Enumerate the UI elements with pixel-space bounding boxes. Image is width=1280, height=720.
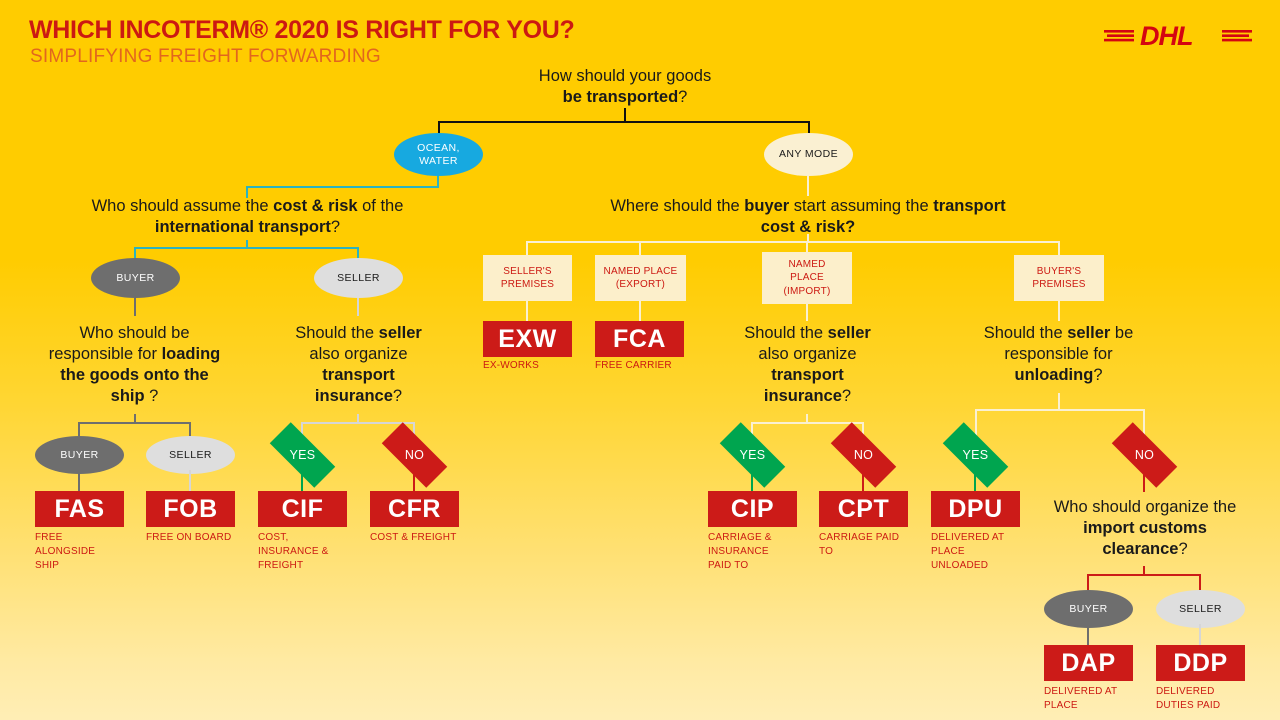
root-question: How should your goods be transported?	[505, 66, 745, 108]
aiq-l4b: insurance	[764, 387, 842, 405]
amq-l1d: transport	[933, 197, 1005, 215]
place1-l2: (EXPORT)	[616, 279, 665, 290]
connector-unloading-no-stem	[1143, 470, 1145, 492]
node-ocean-buyer[interactable]: BUYER	[91, 258, 180, 298]
connector-place0-stem	[526, 301, 528, 321]
term-cfr-caption: COST & FREIGHT	[370, 531, 474, 545]
term-cfr-code: CFR	[388, 495, 441, 524]
place2-l2: PLACE	[790, 272, 824, 283]
ocean-seller-question: Should the seller also organize transpor…	[262, 323, 455, 407]
connector-anymode-drop	[807, 176, 809, 196]
amq-l1c: start assuming the	[789, 197, 933, 215]
place-buyers-premises[interactable]: BUYER'S PREMISES	[1014, 255, 1104, 301]
term-fob-caption: FREE ON BOARD	[146, 531, 250, 545]
cfr-no-label: NO	[405, 448, 424, 462]
obq-l4c: ?	[145, 387, 159, 405]
term-cif[interactable]: CIF	[258, 491, 347, 527]
place0-l1: SELLER'S	[503, 266, 552, 277]
dhl-logo: DHL	[1104, 18, 1252, 52]
ocean-question-l1b: cost & risk	[273, 197, 357, 215]
term-fca-code: FCA	[613, 325, 666, 354]
obq-l2a: responsible for	[49, 345, 162, 363]
aiq-l4c: ?	[842, 387, 851, 405]
term-fca[interactable]: FCA	[595, 321, 684, 357]
term-cfr[interactable]: CFR	[370, 491, 459, 527]
anymode-unloading-question: Should the seller be responsible for unl…	[962, 323, 1155, 386]
term-cpt-caption: CARRIAGE PAID TO	[819, 531, 904, 559]
node-fob-seller[interactable]: SELLER	[146, 436, 235, 474]
cpt-no-label: NO	[854, 448, 873, 462]
term-dap[interactable]: DAP	[1044, 645, 1133, 681]
page-subtitle: SIMPLIFYING FREIGHT FORWARDING	[30, 46, 381, 68]
aiq-l3b: transport	[771, 366, 843, 384]
place2-l1: NAMED	[788, 259, 825, 270]
node-fas-buyer[interactable]: BUYER	[35, 436, 124, 474]
term-dpu-code: DPU	[948, 495, 1002, 524]
place-named-place-import[interactable]: NAMED PLACE (IMPORT)	[762, 252, 852, 304]
term-cif-caption: COST, INSURANCE & FREIGHT	[258, 531, 340, 573]
root-question-line1: How should your goods	[539, 67, 711, 85]
cif-yes-label: YES	[290, 448, 316, 462]
dap-buyer-label: BUYER	[1069, 603, 1107, 616]
any-mode-label: ANY MODE	[779, 148, 838, 161]
connector-obq-left-drop	[78, 422, 80, 436]
fas-buyer-label: BUYER	[60, 449, 98, 462]
ocean-buyer-label: BUYER	[116, 272, 154, 285]
cq-l2b: import customs	[1083, 519, 1207, 537]
term-cip-caption: CARRIAGE & INSURANCE PAID TO	[708, 531, 793, 573]
cip-yes-label: YES	[740, 448, 766, 462]
auq-l3b: unloading	[1014, 366, 1093, 384]
term-fob-code: FOB	[163, 495, 217, 524]
term-dap-caption: DELIVERED AT PLACE	[1044, 685, 1144, 713]
node-ddp-seller[interactable]: SELLER	[1156, 590, 1245, 628]
obq-l4b: ship	[111, 387, 145, 405]
svg-text:DHL: DHL	[1140, 21, 1193, 51]
connector-cif-stem	[301, 470, 303, 492]
root-question-line2-tail: ?	[678, 88, 687, 106]
ocean-question: Who should assume the cost & risk of the…	[55, 196, 440, 238]
connector-cq-bar	[1087, 574, 1200, 576]
connector-ddp-stem	[1199, 624, 1201, 646]
infographic-canvas: WHICH INCOTERM® 2020 IS RIGHT FOR YOU? S…	[0, 0, 1280, 720]
connector-obq-right-drop	[189, 422, 191, 436]
ocean-seller-label: SELLER	[337, 272, 380, 285]
place-sellers-premises[interactable]: SELLER'S PREMISES	[483, 255, 572, 301]
connector-aiq-bar	[751, 422, 863, 424]
connector-amq-d4	[1058, 241, 1060, 255]
connector-auq-stem	[1058, 393, 1060, 410]
term-ddp-code: DDP	[1173, 649, 1227, 678]
ocean-question-l1a: Who should assume the	[92, 197, 274, 215]
connector-osq-bar	[301, 422, 414, 424]
place3-l2: PREMISES	[1032, 279, 1085, 290]
connector-place3-stem	[1058, 301, 1060, 321]
cq-l1: Who should organize the	[1054, 498, 1237, 516]
term-exw-caption: EX-WORKS	[483, 359, 583, 373]
term-cip-code: CIP	[731, 495, 774, 524]
amq-l1a: Where should the	[610, 197, 744, 215]
term-fas[interactable]: FAS	[35, 491, 124, 527]
connector-cpt-stem	[862, 470, 864, 492]
term-exw[interactable]: EXW	[483, 321, 572, 357]
connector-cq-right-drop	[1199, 574, 1201, 590]
place-named-place-export[interactable]: NAMED PLACE (EXPORT)	[595, 255, 686, 301]
connector-fob-stem	[189, 470, 191, 492]
osq-l3b: transport	[322, 366, 394, 384]
connector-cfr-stem	[413, 470, 415, 492]
connector-ocean-seller-drop	[357, 298, 359, 316]
obq-l2b: loading	[162, 345, 221, 363]
connector-amq-bar	[526, 241, 1060, 243]
aiq-l1a: Should the	[744, 324, 827, 342]
auq-l2: responsible for	[1004, 345, 1112, 363]
ocean-question-l2c: ?	[331, 218, 340, 236]
place1-l1: NAMED PLACE	[604, 266, 678, 277]
node-ocean-seller[interactable]: SELLER	[314, 258, 403, 298]
connector-cq-left-drop	[1087, 574, 1089, 590]
auq-l1c: be	[1110, 324, 1133, 342]
node-ocean-water[interactable]: OCEAN, WATER	[394, 133, 483, 176]
aiq-l2: also organize	[758, 345, 856, 363]
connector-root-stem	[624, 108, 626, 122]
obq-l3b: the goods onto the	[60, 366, 208, 384]
ocean-label-line2: WATER	[419, 155, 458, 167]
connector-ocean-q-bar	[134, 247, 359, 249]
term-cpt[interactable]: CPT	[819, 491, 908, 527]
unloading-no-label: NO	[1135, 448, 1154, 462]
term-dpu[interactable]: DPU	[931, 491, 1020, 527]
connector-place2-stem	[806, 304, 808, 321]
term-ddp-caption: DELIVERED DUTIES PAID	[1156, 685, 1248, 713]
term-ddp[interactable]: DDP	[1156, 645, 1245, 681]
node-any-mode[interactable]: ANY MODE	[764, 133, 853, 176]
connector-dpu-stem	[974, 470, 976, 492]
place0-l2: PREMISES	[501, 279, 554, 290]
term-fas-code: FAS	[54, 495, 104, 524]
ocean-question-l2b: international transport	[155, 218, 331, 236]
auq-l1a: Should the	[984, 324, 1067, 342]
ocean-label-line1: OCEAN,	[417, 142, 460, 154]
aiq-l1b: seller	[828, 324, 871, 342]
cq-l3b: clearance	[1102, 540, 1178, 558]
term-exw-code: EXW	[498, 325, 556, 354]
term-cip[interactable]: CIP	[708, 491, 797, 527]
connector-place1-stem	[639, 301, 641, 321]
auq-l1b: seller	[1067, 324, 1110, 342]
osq-l4c: ?	[393, 387, 402, 405]
connector-auq-bar	[975, 409, 1144, 411]
fob-seller-label: SELLER	[169, 449, 212, 462]
root-question-line2-bold: be transported	[563, 88, 679, 106]
term-cif-code: CIF	[282, 495, 324, 524]
osq-l4b: insurance	[315, 387, 393, 405]
term-fob[interactable]: FOB	[146, 491, 235, 527]
ocean-buyer-question: Who should be responsible for loading th…	[26, 323, 243, 407]
anymode-question: Where should the buyer start assuming th…	[560, 196, 1056, 238]
obq-l1: Who should be	[79, 324, 189, 342]
connector-root-bar	[438, 121, 810, 123]
ocean-question-l1c: of the	[358, 197, 404, 215]
osq-l2: also organize	[309, 345, 407, 363]
anymode-insurance-question: Should the seller also organize transpor…	[711, 323, 904, 407]
cq-l3c: ?	[1178, 540, 1187, 558]
connector-dap-stem	[1087, 624, 1089, 646]
connector-cip-stem	[751, 470, 753, 492]
node-dap-buyer[interactable]: BUYER	[1044, 590, 1133, 628]
connector-amq-d1	[526, 241, 528, 255]
page-title: WHICH INCOTERM® 2020 IS RIGHT FOR YOU?	[29, 16, 575, 45]
connector-amq-d2	[639, 241, 641, 255]
term-dpu-caption: DELIVERED AT PLACE UNLOADED	[931, 531, 1016, 573]
dpu-yes-label: YES	[963, 448, 989, 462]
connector-ocean-left	[246, 186, 439, 188]
osq-l1b: seller	[379, 324, 422, 342]
term-dap-code: DAP	[1061, 649, 1115, 678]
auq-l3c: ?	[1093, 366, 1102, 384]
connector-auq-left-drop	[975, 409, 977, 436]
customs-question: Who should organize the import customs c…	[1040, 497, 1250, 560]
connector-obq-bar	[78, 422, 191, 424]
term-cpt-code: CPT	[838, 495, 890, 524]
term-fas-caption: FREE ALONGSIDE SHIP	[35, 531, 107, 573]
term-fca-caption: FREE CARRIER	[595, 359, 695, 373]
osq-l1a: Should the	[295, 324, 378, 342]
ddp-seller-label: SELLER	[1179, 603, 1222, 616]
connector-fas-stem	[78, 470, 80, 492]
amq-l1b: buyer	[744, 197, 789, 215]
connector-ocean-buyer-drop	[134, 298, 136, 316]
place2-l3: (IMPORT)	[784, 286, 831, 297]
place3-l1: BUYER'S	[1037, 266, 1081, 277]
